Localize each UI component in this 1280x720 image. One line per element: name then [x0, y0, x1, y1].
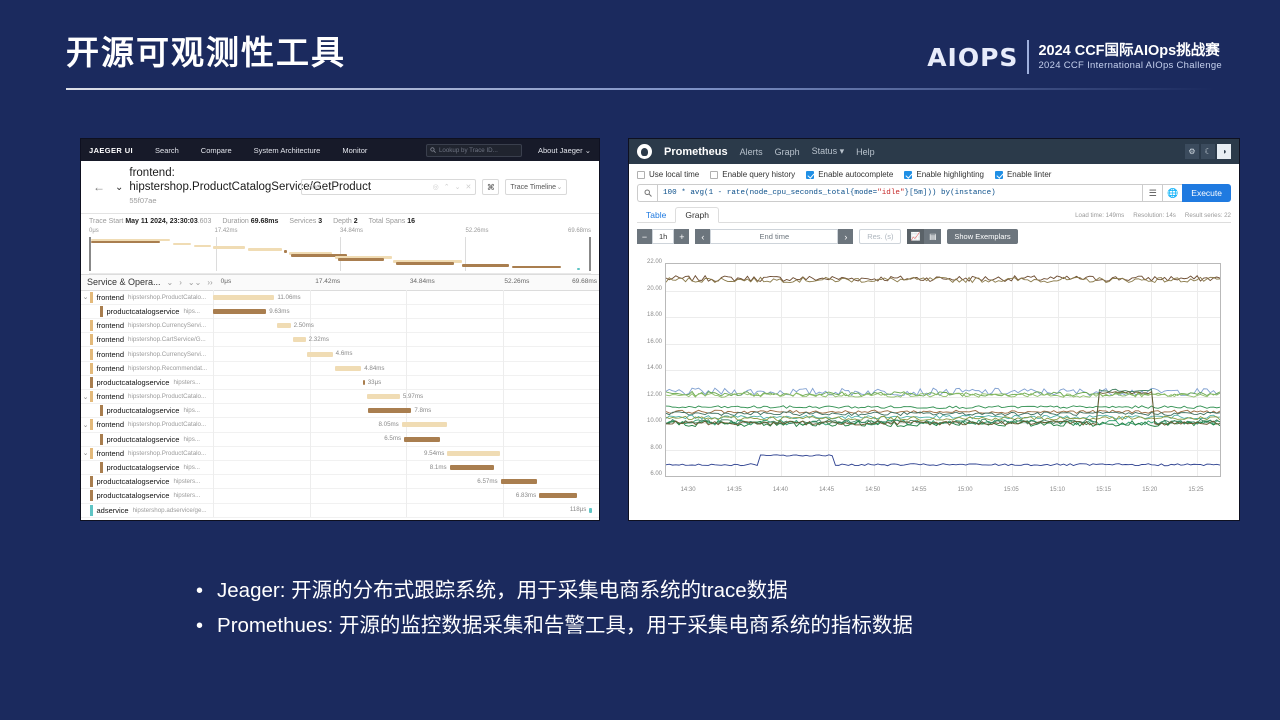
span-duration-bar[interactable]	[213, 309, 266, 314]
gear-icon[interactable]: ⚙	[1185, 144, 1199, 159]
span-duration-label: 6.5ms	[384, 435, 401, 442]
span-service-name: frontend	[97, 364, 125, 373]
logo-title-cn: 2024 CCF国际AIOps挑战赛	[1038, 42, 1222, 60]
y-axis-tick: 16.00	[637, 339, 662, 345]
x-axis-tick: 15:25	[1188, 487, 1203, 493]
span-gridline	[503, 460, 504, 474]
minimap-canvas[interactable]	[89, 237, 591, 271]
service-color-swatch	[90, 334, 93, 345]
span-row[interactable]: ⌄frontendhipstershop.ProductCatalo...11.…	[81, 291, 599, 305]
span-name-cell: productcatalogservicehipsters...	[90, 377, 213, 388]
resolution-input[interactable]: Res. (s)	[859, 229, 901, 244]
jaeger-nav-monitor[interactable]: Monitor	[342, 146, 367, 155]
span-service-name: frontend	[97, 449, 125, 458]
span-gridline	[213, 446, 214, 460]
span-duration-label: 9.54ms	[424, 450, 444, 457]
service-color-swatch	[90, 363, 93, 374]
close-icon[interactable]: ✕	[466, 183, 472, 191]
span-gridline	[503, 347, 504, 361]
trace-minimap[interactable]: 0μs17.42ms34.84ms52.26ms69.68ms	[89, 228, 591, 274]
span-duration-bar[interactable]	[450, 465, 495, 470]
span-gridline	[503, 432, 504, 446]
result-series: Result series: 22	[1185, 212, 1231, 219]
service-color-swatch	[90, 419, 93, 430]
minimap-span-bar	[577, 268, 580, 271]
query-bar: 100 * avg(1 - rate(node_cpu_seconds_tota…	[637, 184, 1231, 202]
view-mode-select[interactable]: Trace Timeline ⌄	[505, 179, 567, 195]
query-options-icon[interactable]: ☰	[1142, 184, 1162, 202]
option-label: Enable highlighting	[916, 170, 984, 179]
span-service-name: productcatalogservice	[107, 463, 180, 472]
checkbox-checked-icon[interactable]	[806, 171, 814, 179]
minimap-span-bar	[512, 266, 561, 269]
minimap-span-bar	[213, 246, 246, 249]
jaeger-screenshot: JAEGER UI Search Compare System Architec…	[80, 138, 600, 521]
span-gridline	[310, 432, 311, 446]
end-time-input[interactable]: End time	[710, 229, 838, 244]
prom-nav-graph[interactable]: Graph	[775, 147, 800, 157]
y-axis-tick: 18.00	[637, 312, 662, 318]
bullet-text: Jeager: 开源的分布式跟踪系统，用于采集电商系统的trace数据	[217, 578, 788, 604]
range-decrease-button[interactable]: −	[637, 229, 652, 244]
x-axis-tick: 14:30	[681, 487, 696, 493]
span-duration-bar[interactable]	[368, 408, 411, 413]
x-axis-tick: 14:40	[773, 487, 788, 493]
minimap-span-bar	[462, 264, 509, 267]
end-time-picker: ‹ End time ›	[695, 229, 853, 244]
jaeger-nav-compare[interactable]: Compare	[201, 146, 232, 155]
span-service-name: frontend	[97, 321, 125, 330]
span-operation-name: hipsters...	[173, 379, 200, 386]
span-row[interactable]: productcatalogservicehipsters...33μs	[81, 376, 599, 390]
span-operation-name: hips...	[183, 436, 200, 443]
span-row[interactable]: frontendhipstershop.CurrencyServi...4.6m…	[81, 347, 599, 361]
option-label: Enable query history	[722, 170, 795, 179]
span-gridline	[310, 460, 311, 474]
span-duration-label: 118μs	[570, 506, 587, 513]
prom-toolbar-icons: ⚙ ☾ ◑	[1185, 144, 1231, 159]
span-bar-cell: 9.63ms	[213, 304, 599, 318]
span-gridline	[213, 432, 214, 446]
span-duration-label: 6.83ms	[516, 492, 536, 499]
service-color-swatch	[90, 490, 93, 501]
span-service-name: frontend	[97, 350, 125, 359]
option-checkbox[interactable]: Enable highlighting	[904, 170, 984, 179]
line-chart-icon[interactable]: 📈	[907, 229, 924, 244]
span-gridline	[503, 290, 504, 304]
span-row[interactable]: frontendhipstershop.CartService/G...2.32…	[81, 333, 599, 347]
span-expand-icon[interactable]: ⌄	[81, 293, 90, 301]
service-color-swatch	[90, 292, 93, 303]
find-input[interactable]: Find... ◎ ⌃ ⌄ ✕	[301, 179, 476, 195]
prometheus-screenshot: Prometheus Alerts Graph Status ▾ Help ⚙ …	[628, 138, 1240, 521]
tab-table[interactable]: Table	[637, 208, 675, 222]
contrast-icon[interactable]: ◑	[1217, 144, 1231, 159]
span-gridline	[310, 290, 311, 304]
span-gridline	[503, 418, 504, 432]
jaeger-nav-system-architecture[interactable]: System Architecture	[254, 146, 321, 155]
cpu-usage-chart: 6.008.0010.0012.0014.0016.0018.0020.0022…	[637, 263, 1231, 495]
span-service-name: frontend	[97, 392, 125, 401]
promql-query-input[interactable]: 100 * avg(1 - rate(node_cpu_seconds_tota…	[657, 184, 1142, 202]
span-operation-name: hips...	[183, 464, 200, 471]
span-bar-cell: 8.05ms	[213, 418, 599, 432]
span-bar-cell: 9.54ms	[213, 446, 599, 460]
span-duration-label: 8.05ms	[378, 421, 398, 428]
span-service-name: productcatalogservice	[97, 477, 170, 486]
span-duration-bar[interactable]	[539, 493, 577, 498]
jaeger-topbar: JAEGER UI Search Compare System Architec…	[81, 139, 599, 161]
span-bar-cell: 5.97ms	[213, 390, 599, 404]
span-gridline	[406, 446, 407, 460]
span-gridline	[406, 375, 407, 389]
span-duration-bar[interactable]	[335, 366, 362, 371]
span-gridline	[406, 319, 407, 333]
range-value[interactable]: 1h	[652, 229, 674, 244]
stacked-chart-icon[interactable]: ▤	[924, 229, 941, 244]
chevron-up-icon[interactable]: ⌃	[444, 183, 450, 191]
span-duration-bar[interactable]	[367, 394, 400, 399]
span-name-cell: frontendhipstershop.CartService/G...	[90, 334, 213, 345]
span-duration-bar[interactable]	[213, 295, 274, 300]
title-divider	[66, 88, 1214, 90]
option-checkbox[interactable]: Enable autocomplete	[806, 170, 893, 179]
prom-nav-alerts[interactable]: Alerts	[740, 147, 763, 157]
span-row[interactable]: frontendhipstershop.Recommendat...4.84ms	[81, 362, 599, 376]
query-search-icon	[637, 184, 657, 202]
span-row[interactable]: productcatalogservicehips...8.1ms	[81, 461, 599, 475]
span-name-cell: productcatalogservicehips...	[90, 405, 213, 416]
load-time: Load time: 149ms	[1075, 212, 1124, 219]
span-name-cell: productcatalogservicehipsters...	[90, 476, 213, 487]
span-gridline	[213, 475, 214, 489]
span-row[interactable]: productcatalogservicehips...9.63ms	[81, 305, 599, 319]
expand-one-icon[interactable]: ›	[179, 278, 182, 287]
query-part-3: }[5m])) by	[905, 189, 951, 197]
span-gridline	[310, 418, 311, 432]
span-gridline	[503, 503, 504, 517]
x-axis-tick: 14:50	[865, 487, 880, 493]
logo-divider	[1027, 40, 1029, 74]
span-gridline	[213, 319, 214, 333]
span-name-cell: productcatalogservicehips...	[90, 434, 213, 445]
trace-start-label: Trace Start	[89, 218, 123, 225]
span-name-cell: frontendhipstershop.ProductCatalo...	[90, 419, 213, 430]
span-gridline	[503, 304, 504, 318]
range-increase-button[interactable]: +	[674, 229, 689, 244]
chevron-down-icon[interactable]: ⌄	[455, 183, 461, 191]
back-button[interactable]: ←	[89, 180, 109, 194]
x-axis-tick: 15:20	[1142, 487, 1157, 493]
span-gridline	[406, 290, 407, 304]
minimap-tick: 17.42ms	[215, 228, 238, 234]
span-row[interactable]: ⌄frontendhipstershop.ProductCatalo...5.9…	[81, 390, 599, 404]
bullet-marker: •	[196, 578, 203, 601]
span-gridline	[213, 503, 214, 517]
prom-nav-status[interactable]: Status ▾	[812, 146, 845, 157]
timeline-tick: 34.84ms	[410, 278, 435, 285]
timeline-tick: 52.26ms	[504, 278, 529, 285]
option-label: Use local time	[649, 170, 699, 179]
timeline-ticks: 0μs17.42ms34.84ms52.26ms69.68ms	[221, 274, 599, 291]
prom-nav-help[interactable]: Help	[856, 147, 875, 157]
trace-stats-bar: Trace Start May 11 2024, 23:30:03.603 Du…	[81, 214, 599, 228]
span-gridline	[213, 390, 214, 404]
span-column-header: Service & Opera... ⌄ › ⌄⌄ ›› 0μs17.42ms3…	[81, 274, 599, 291]
span-duration-bar[interactable]	[501, 479, 537, 484]
x-axis-tick: 15:15	[1096, 487, 1111, 493]
span-gridline	[310, 390, 311, 404]
duration-label: Duration	[222, 218, 248, 225]
span-duration-bar[interactable]	[402, 422, 447, 427]
span-expand-icon[interactable]: ⌄	[81, 421, 90, 429]
span-bar-cell: 4.84ms	[213, 361, 599, 375]
span-duration-label: 7.8ms	[414, 407, 431, 414]
prometheus-logo-icon	[637, 144, 652, 159]
span-gridline	[213, 347, 214, 361]
prometheus-options: Use local timeEnable query historyEnable…	[629, 164, 1239, 184]
search-icon	[430, 147, 436, 153]
span-service-name: productcatalogservice	[107, 307, 180, 316]
span-duration-bar[interactable]	[404, 437, 440, 442]
resolution: Resolution: 14s	[1133, 212, 1176, 219]
time-next-button[interactable]: ›	[838, 229, 853, 244]
span-row[interactable]: ⌄frontendhipstershop.ProductCatalo...9.5…	[81, 447, 599, 461]
option-checkbox[interactable]: Use local time	[637, 170, 699, 179]
duration-value: 69.68ms	[251, 218, 279, 225]
option-label: Enable autocomplete	[818, 170, 893, 179]
minimap-span-bar	[194, 245, 210, 248]
x-axis-tick: 14:55	[911, 487, 926, 493]
span-duration-label: 11.06ms	[277, 294, 300, 301]
keyboard-shortcut-button[interactable]: ⌘	[482, 179, 499, 195]
span-operation-name: hipstershop.ProductCatalo...	[128, 450, 206, 457]
span-duration-bar[interactable]	[293, 337, 306, 342]
jaeger-nav-search[interactable]: Search	[155, 146, 179, 155]
moon-icon[interactable]: ☾	[1201, 144, 1215, 159]
metrics-explorer-icon[interactable]: 🌐	[1162, 184, 1182, 202]
span-gridline	[310, 361, 311, 375]
span-operation-name: hipsters...	[173, 492, 200, 499]
span-duration-bar[interactable]	[447, 451, 500, 456]
service-color-swatch	[100, 306, 103, 317]
total-spans-value: 16	[407, 218, 415, 225]
y-axis-tick: 14.00	[637, 365, 662, 371]
span-operation-name: hipstershop.ProductCatalo...	[128, 393, 206, 400]
find-placeholder: Find...	[306, 184, 325, 191]
span-row[interactable]: productcatalogservicehips...6.5ms	[81, 433, 599, 447]
span-gridline	[213, 460, 214, 474]
query-meta: Load time: 149ms Resolution: 14s Result …	[1075, 212, 1231, 222]
span-gridline	[310, 475, 311, 489]
span-gridline	[213, 489, 214, 503]
span-gridline	[213, 404, 214, 418]
span-gridline	[503, 375, 504, 389]
span-duration-label: 2.32ms	[309, 336, 329, 343]
minimap-span-bar	[91, 241, 160, 244]
y-axis-tick: 22.00	[637, 259, 662, 265]
execute-button[interactable]: Execute	[1182, 184, 1231, 202]
span-name-cell: productcatalogservicehips...	[90, 462, 213, 473]
span-bar-cell: 33μs	[213, 375, 599, 389]
span-row[interactable]: productcatalogservicehips...7.8ms	[81, 404, 599, 418]
depth-value: 2	[354, 218, 358, 225]
collapse-toggle-icon[interactable]: ⌄	[115, 182, 123, 193]
span-gridline	[406, 503, 407, 517]
minimap-span-bar	[338, 258, 384, 261]
span-name-cell: frontendhipstershop.ProductCatalo...	[90, 292, 213, 303]
minimap-span-bar	[396, 262, 454, 265]
show-exemplars-button[interactable]: Show Exemplars	[947, 229, 1017, 244]
y-axis-tick: 8.00	[637, 445, 662, 451]
span-gridline	[503, 446, 504, 460]
span-duration-label: 4.6ms	[336, 350, 353, 357]
span-name-cell: frontendhipstershop.CurrencyServi...	[90, 349, 213, 360]
minimap-tick: 34.84ms	[340, 228, 363, 234]
service-color-swatch	[90, 320, 93, 331]
span-gridline	[406, 333, 407, 347]
depth-label: Depth	[333, 218, 352, 225]
trace-id-search-input[interactable]: Lookup by Trace ID...	[426, 144, 522, 157]
collapse-all-icon[interactable]: ⌄⌄	[188, 278, 201, 287]
span-gridline	[406, 304, 407, 318]
span-bar-cell: 6.5ms	[213, 432, 599, 446]
span-name-cell: productcatalogservicehips...	[90, 306, 213, 317]
service-color-swatch	[90, 448, 93, 459]
span-gridline	[503, 404, 504, 418]
minimap-tick: 0μs	[89, 228, 99, 234]
span-duration-bar[interactable]	[277, 323, 291, 328]
x-axis-tick: 15:00	[958, 487, 973, 493]
span-gridline	[406, 347, 407, 361]
query-part-1: 100 * avg(1 - rate(node_cpu_seconds_tota…	[663, 189, 877, 197]
search-placeholder: Lookup by Trace ID...	[439, 147, 498, 154]
minimap-gridline	[216, 237, 217, 271]
span-row[interactable]: productcatalogservicehipsters...6.57ms	[81, 475, 599, 489]
aiops-logo-mark: AIOPS	[927, 43, 1018, 72]
chart-plot-area[interactable]	[665, 263, 1221, 477]
collapse-one-icon[interactable]: ⌄	[167, 278, 174, 287]
span-service-name: frontend	[97, 335, 125, 344]
span-duration-label: 4.84ms	[364, 365, 384, 372]
service-color-swatch	[90, 377, 93, 388]
jaeger-brand[interactable]: JAEGER UI	[89, 146, 133, 155]
minimap-ticks: 0μs17.42ms34.84ms52.26ms69.68ms	[89, 228, 591, 237]
checkbox-checked-icon[interactable]	[995, 171, 1003, 179]
span-duration-label: 2.50ms	[294, 322, 314, 329]
span-expand-icon[interactable]: ⌄	[81, 393, 90, 401]
minimap-tick: 52.26ms	[466, 228, 489, 234]
span-bar-cell: 11.06ms	[213, 290, 599, 304]
service-color-swatch	[90, 349, 93, 360]
total-spans-label: Total Spans	[369, 218, 406, 225]
range-stepper: − 1h +	[637, 229, 689, 244]
prometheus-brand[interactable]: Prometheus	[664, 146, 728, 158]
span-bar-cell: 118μs	[213, 503, 599, 517]
expand-all-icon[interactable]: ››	[207, 278, 212, 287]
tab-graph[interactable]: Graph	[675, 207, 719, 223]
span-gridline	[503, 333, 504, 347]
service-color-swatch	[100, 405, 103, 416]
span-operation-name: hipstershop.CurrencyServi...	[128, 351, 206, 358]
service-color-swatch	[100, 462, 103, 473]
checkbox-checked-icon[interactable]	[904, 171, 912, 179]
span-duration-bar[interactable]	[363, 380, 365, 385]
span-row[interactable]: frontendhipstershop.CurrencyServi...2.50…	[81, 319, 599, 333]
service-color-swatch	[100, 434, 103, 445]
x-axis-tick: 15:10	[1050, 487, 1065, 493]
logo-title-en: 2024 CCF International AIOps Challenge	[1038, 60, 1222, 72]
trace-start-value: May 11 2024, 23:30:03	[125, 218, 197, 225]
services-value: 3	[318, 218, 322, 225]
y-axis-tick: 20.00	[637, 286, 662, 292]
service-operation-column-label: Service & Opera...	[87, 277, 161, 287]
span-bar-cell: 6.57ms	[213, 475, 599, 489]
span-gridline	[310, 375, 311, 389]
service-color-swatch	[90, 505, 93, 516]
minimap-span-bar	[173, 243, 191, 246]
prometheus-topbar: Prometheus Alerts Graph Status ▾ Help ⚙ …	[629, 139, 1239, 164]
span-gridline	[310, 404, 311, 418]
trace-start-ms: .603	[198, 218, 212, 225]
span-service-name: productcatalogservice	[97, 378, 170, 387]
x-axis-tick: 14:45	[819, 487, 834, 493]
graph-controls: − 1h + ‹ End time › Res. (s) 📈 ▤ Show Ex…	[637, 229, 1231, 244]
span-gridline	[310, 503, 311, 517]
span-duration-label: 9.63ms	[269, 308, 289, 315]
query-part-4: (instance)	[950, 189, 996, 197]
span-service-name: frontend	[97, 293, 125, 302]
time-prev-button[interactable]: ‹	[695, 229, 710, 244]
span-bar-cell: 6.83ms	[213, 489, 599, 503]
bullet-item: •Jeager: 开源的分布式跟踪系统，用于采集电商系统的trace数据	[196, 578, 1096, 604]
option-label: Enable linter	[1007, 170, 1051, 179]
clear-icon[interactable]: ◎	[433, 183, 439, 191]
span-gridline	[406, 361, 407, 375]
checkbox-unchecked-icon[interactable]	[637, 171, 645, 179]
span-gridline	[503, 361, 504, 375]
minimap-span-bar	[248, 248, 282, 251]
span-row[interactable]: productcatalogservicehipsters...6.83ms	[81, 489, 599, 503]
page-title: 开源可观测性工具	[66, 26, 346, 74]
span-row[interactable]: ⌄frontendhipstershop.ProductCatalo...8.0…	[81, 418, 599, 432]
option-checkbox[interactable]: Enable query history	[710, 170, 795, 179]
span-gridline	[310, 304, 311, 318]
trace-name: frontend: hipstershop.ProductCatalogServ…	[129, 167, 289, 208]
minimap-tick: 69.68ms	[568, 228, 591, 234]
span-operation-name: hipstershop.ProductCatalo...	[128, 421, 206, 428]
span-duration-bar[interactable]	[589, 508, 591, 513]
span-duration-bar[interactable]	[307, 352, 332, 357]
span-expand-icon[interactable]: ⌄	[81, 449, 90, 457]
span-operation-name: hipstershop.Recommendat...	[128, 365, 207, 372]
option-checkbox[interactable]: Enable linter	[995, 170, 1051, 179]
span-name-cell: frontendhipstershop.ProductCatalo...	[90, 391, 213, 402]
span-row[interactable]: adservicehipstershop.adservice/ge...118μ…	[81, 504, 599, 518]
result-tabs: Table Graph Load time: 149ms Resolution:…	[637, 207, 1231, 223]
span-name-cell: frontendhipstershop.CurrencyServi...	[90, 320, 213, 331]
span-gridline	[406, 489, 407, 503]
span-duration-label: 8.1ms	[430, 464, 447, 471]
bullet-item: •Promethues: 开源的监控数据采集和告警工具，用于采集电商系统的指标数…	[196, 613, 1096, 639]
span-name-cell: adservicehipstershop.adservice/ge...	[90, 505, 213, 516]
about-jaeger-menu[interactable]: About Jaeger ⌄	[538, 146, 591, 155]
chevron-down-icon: ⌄	[585, 146, 591, 155]
span-gridline	[406, 460, 407, 474]
checkbox-unchecked-icon[interactable]	[710, 171, 718, 179]
span-gridline	[406, 475, 407, 489]
y-axis-tick: 10.00	[637, 418, 662, 424]
